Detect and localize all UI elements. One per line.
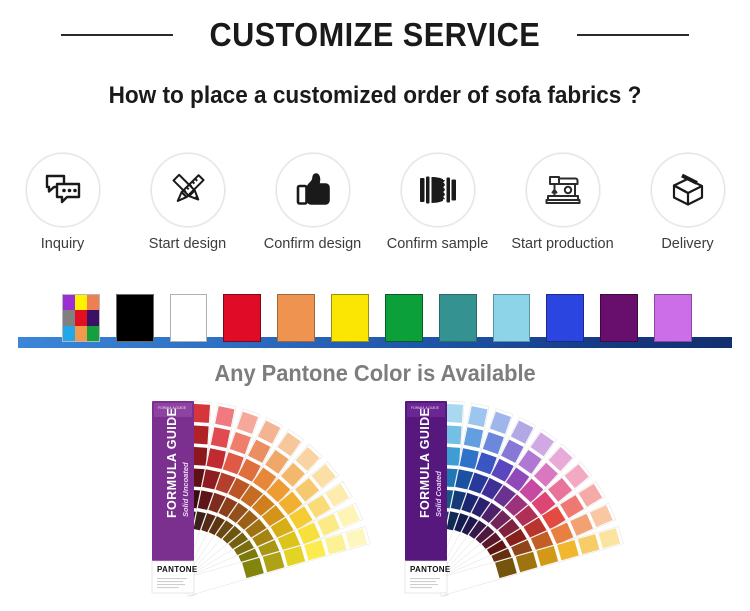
- fabric-swatch-icon: [418, 174, 458, 206]
- process-step-confirm-design[interactable]: Confirm design: [250, 150, 375, 265]
- process-step-confirm-sample[interactable]: Confirm sample: [375, 150, 500, 265]
- swatch-orange[interactable]: [277, 294, 315, 342]
- swatch-red[interactable]: [223, 294, 261, 342]
- pantone-guide-solid-coated: FORMULA GUIDE FORMULA GUIDE Solid Coated…: [395, 398, 655, 598]
- guide-swatch: [193, 404, 210, 423]
- process-step-start-production[interactable]: Start production: [500, 150, 625, 265]
- color-swatch-row: [62, 294, 692, 342]
- step-label: Start production: [511, 236, 613, 252]
- swatch-orchid[interactable]: [654, 294, 692, 342]
- guide-cover-subtitle: Solid Coated: [434, 471, 443, 517]
- step-icon-circle: [26, 153, 100, 227]
- step-label: Delivery: [661, 236, 713, 252]
- guide-cover-subtitle: Solid Uncoated: [181, 462, 190, 517]
- pantone-guide-solid-uncoated: FORMULA GUIDE FORMULA GUIDE Solid Uncoat…: [120, 398, 380, 598]
- guide-swatch: [446, 404, 463, 423]
- swatch-green[interactable]: [385, 294, 423, 342]
- swatch-cell: [63, 326, 75, 341]
- step-icon-circle: [401, 153, 475, 227]
- process-step-delivery[interactable]: Delivery: [625, 150, 750, 265]
- guide-cover-title: FORMULA GUIDE: [165, 408, 179, 518]
- step-icon-circle: [526, 153, 600, 227]
- swatch-cell: [75, 326, 87, 341]
- step-icon-circle: [151, 153, 225, 227]
- process-step-start-design[interactable]: Start design: [125, 150, 250, 265]
- chat-bubbles-icon: [43, 173, 83, 207]
- page-header: CUSTOMIZE SERVICE: [0, 0, 750, 70]
- open-box-icon: [668, 171, 708, 209]
- swatch-light-blue[interactable]: [493, 294, 531, 342]
- swatch-cell: [63, 310, 75, 325]
- sewing-machine-icon: [542, 173, 584, 207]
- step-icon-circle: [276, 153, 350, 227]
- process-step-inquiry[interactable]: Inquiry: [0, 150, 125, 265]
- header-rule-left: [61, 34, 173, 36]
- swatch-black[interactable]: [116, 294, 154, 342]
- step-label: Start design: [149, 236, 226, 252]
- thumbs-up-icon: [294, 171, 332, 209]
- swatch-cell: [63, 295, 75, 310]
- ruler-pencil-icon: [168, 170, 208, 210]
- swatch-cell: [87, 295, 99, 310]
- swatch-cell: [87, 326, 99, 341]
- guide-swatch: [191, 425, 208, 444]
- swatch-blue[interactable]: [546, 294, 584, 342]
- page-title: CUSTOMIZE SERVICE: [210, 16, 541, 54]
- guide-cover-title: FORMULA GUIDE: [418, 408, 432, 518]
- step-label: Inquiry: [41, 236, 85, 252]
- process-flow: Inquiry: [0, 150, 750, 265]
- guide-swatch: [444, 425, 461, 444]
- pantone-caption: Any Pantone Color is Available: [19, 360, 732, 387]
- swatch-cell: [75, 310, 87, 325]
- swatch-white[interactable]: [170, 294, 208, 342]
- swatch-yellow[interactable]: [331, 294, 369, 342]
- swatch-purple[interactable]: [600, 294, 638, 342]
- step-icon-circle: [651, 153, 725, 227]
- page-subtitle: How to place a customized order of sofa …: [23, 82, 728, 110]
- step-label: Confirm sample: [387, 236, 489, 252]
- guide-brand: PANTONE: [410, 565, 451, 574]
- swatch-cell: [87, 310, 99, 325]
- header-rule-right: [577, 34, 689, 36]
- step-label: Confirm design: [264, 236, 362, 252]
- swatch-cell: [75, 295, 87, 310]
- guide-brand: PANTONE: [157, 565, 198, 574]
- swatch-teal[interactable]: [439, 294, 477, 342]
- swatch-multicolor-grid[interactable]: [62, 294, 100, 342]
